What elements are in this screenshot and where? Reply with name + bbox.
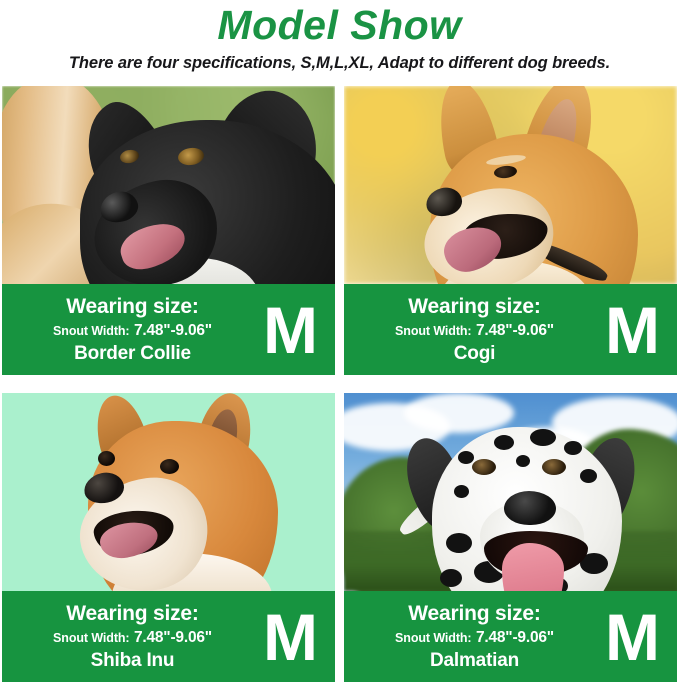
dog-spot	[494, 435, 514, 450]
snout-width-label: Snout Width:	[53, 324, 129, 338]
dog-nose	[504, 491, 556, 525]
wearing-size-label: Wearing size:	[66, 294, 198, 320]
dog-spot	[530, 429, 556, 446]
breed-name: Border Collie	[74, 342, 191, 366]
snout-width-label: Snout Width:	[53, 631, 129, 645]
breed-name: Shiba Inu	[91, 649, 175, 673]
dog-spot	[454, 485, 469, 498]
breed-photo-shiba-inu	[2, 393, 335, 591]
size-badge: M	[263, 297, 317, 363]
size-info-text: Wearing size: Snout Width: 7.48"-9.06" S…	[2, 591, 249, 682]
snout-width-value: 7.48"-9.06"	[134, 322, 212, 339]
snout-width-value: 7.48"-9.06"	[134, 629, 212, 646]
snout-width-line: Snout Width: 7.48"-9.06"	[395, 321, 554, 341]
snout-width-value: 7.48"-9.06"	[476, 629, 554, 646]
size-info-bar: Wearing size: Snout Width: 7.48"-9.06" D…	[344, 591, 677, 682]
wearing-size-label: Wearing size:	[408, 601, 540, 627]
breed-name: Cogi	[454, 342, 495, 366]
page-subtitle: There are four specifications, S,M,L,XL,…	[0, 52, 679, 74]
header: Model Show There are four specifications…	[0, 0, 679, 74]
dog-spot	[458, 451, 474, 464]
size-badge: M	[605, 297, 659, 363]
dog-spot	[580, 469, 597, 483]
size-info-text: Wearing size: Snout Width: 7.48"-9.06" B…	[2, 284, 249, 375]
dog-spot	[516, 455, 530, 467]
breed-panel-shiba-inu[interactable]: Wearing size: Snout Width: 7.48"-9.06" S…	[2, 393, 335, 682]
size-info-bar: Wearing size: Snout Width: 7.48"-9.06" S…	[2, 591, 335, 682]
snout-width-value: 7.48"-9.06"	[476, 322, 554, 339]
breed-photo-border-collie	[2, 86, 335, 284]
breed-panel-grid: Wearing size: Snout Width: 7.48"-9.06" B…	[2, 86, 677, 682]
breed-photo-cogi	[344, 86, 677, 284]
wearing-size-label: Wearing size:	[408, 294, 540, 320]
size-badge: M	[263, 604, 317, 670]
page-title: Model Show	[0, 2, 679, 49]
breed-panel-dalmatian[interactable]: Wearing size: Snout Width: 7.48"-9.06" D…	[344, 393, 677, 682]
dog-spot	[564, 441, 582, 455]
size-info-bar: Wearing size: Snout Width: 7.48"-9.06" C…	[344, 284, 677, 375]
snout-width-line: Snout Width: 7.48"-9.06"	[53, 321, 212, 341]
dog-spot	[446, 533, 472, 553]
size-info-text: Wearing size: Snout Width: 7.48"-9.06" D…	[344, 591, 591, 682]
dog-eye-left	[472, 459, 496, 475]
breed-name: Dalmatian	[430, 649, 519, 673]
snout-width-label: Snout Width:	[395, 631, 471, 645]
breed-panel-border-collie[interactable]: Wearing size: Snout Width: 7.48"-9.06" B…	[2, 86, 335, 375]
wearing-size-label: Wearing size:	[66, 601, 198, 627]
snout-width-line: Snout Width: 7.48"-9.06"	[53, 628, 212, 648]
dog-eye-right	[160, 459, 179, 474]
dog-eye-right	[542, 459, 566, 475]
breed-photo-dalmatian	[344, 393, 677, 591]
size-info-bar: Wearing size: Snout Width: 7.48"-9.06" B…	[2, 284, 335, 375]
dog-spot	[440, 569, 462, 587]
dog-eye-left	[98, 451, 115, 466]
snout-width-label: Snout Width:	[395, 324, 471, 338]
size-badge: M	[605, 604, 659, 670]
breed-panel-cogi[interactable]: Wearing size: Snout Width: 7.48"-9.06" C…	[344, 86, 677, 375]
cloud	[404, 393, 514, 433]
size-info-text: Wearing size: Snout Width: 7.48"-9.06" C…	[344, 284, 591, 375]
snout-width-line: Snout Width: 7.48"-9.06"	[395, 628, 554, 648]
